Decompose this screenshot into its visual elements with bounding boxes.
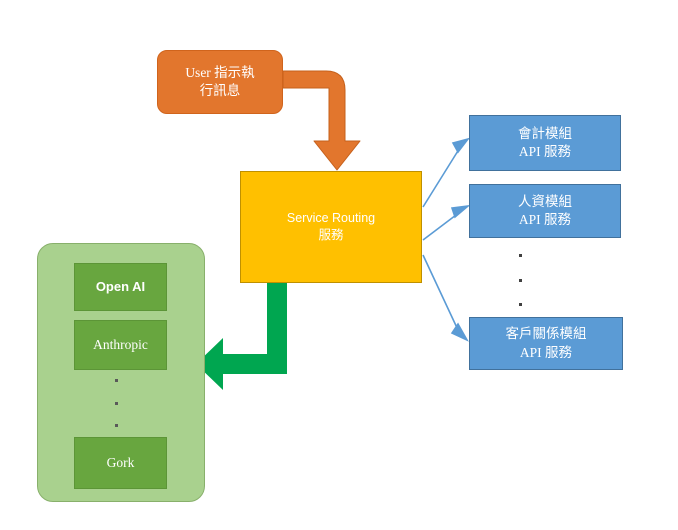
api-module-line-1: 客戶關係模組: [506, 325, 587, 343]
llm-items-ellipsis: [112, 379, 120, 427]
api-module-line-2: API 服務: [520, 344, 572, 362]
llm-item-label: Open AI: [96, 278, 145, 296]
user-box-line-2: 行訊息: [200, 82, 241, 100]
user-box-line-1: User 指示執: [185, 64, 254, 82]
service-routing-line-1: Service Routing: [287, 210, 375, 227]
api-module-box-accounting[interactable]: 會計模組 API 服務: [469, 115, 621, 171]
api-module-box-crm[interactable]: 客戶關係模組 API 服務: [469, 317, 623, 370]
api-module-line-2: API 服務: [519, 211, 571, 229]
corner-mark: [663, 513, 675, 525]
api-module-box-hr[interactable]: 人資模組 API 服務: [469, 184, 621, 238]
llm-item-label: Gork: [107, 454, 135, 472]
ellipsis-dot: [115, 379, 118, 382]
diagram-canvas: User 指示執 行訊息 Service Routing 服務 會計模組 API…: [0, 0, 678, 530]
api-module-line-2: API 服務: [519, 143, 571, 161]
arrow-user-to-routing: [283, 71, 360, 170]
api-module-line-1: 人資模組: [518, 193, 572, 211]
ellipsis-dot: [519, 279, 522, 282]
service-routing-box[interactable]: Service Routing 服務: [240, 171, 422, 283]
llm-item-anthropic[interactable]: Anthropic: [74, 320, 167, 370]
ellipsis-dot: [519, 254, 522, 257]
ellipsis-dot: [115, 424, 118, 427]
api-modules-ellipsis: [516, 254, 524, 306]
user-instruction-box[interactable]: User 指示執 行訊息: [157, 50, 283, 114]
arrow-routing-to-api-3: [423, 255, 467, 340]
ellipsis-dot: [115, 402, 118, 405]
llm-item-gork[interactable]: Gork: [74, 437, 167, 489]
service-routing-line-2: 服務: [318, 227, 343, 244]
arrow-routing-to-api-2: [423, 206, 468, 240]
arrow-routing-to-api-1: [423, 139, 468, 207]
llm-item-label: Anthropic: [93, 336, 148, 354]
ellipsis-dot: [519, 303, 522, 306]
api-module-line-1: 會計模組: [518, 125, 572, 143]
llm-item-open-ai[interactable]: Open AI: [74, 263, 167, 311]
